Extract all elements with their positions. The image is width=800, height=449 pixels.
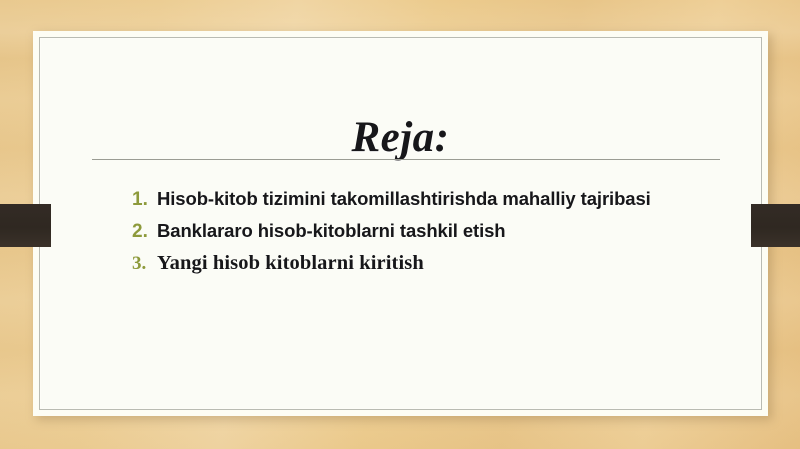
title-divider (92, 159, 720, 160)
list-item-number: 1. (132, 187, 157, 213)
list-item-number: 2. (132, 219, 157, 245)
slide-card-inner-border: Reja: 1. Hisob-kitob tizimini takomillas… (39, 37, 762, 410)
list-item: 1. Hisob-kitob tizimini takomillashtiris… (132, 187, 772, 213)
list-item: 3. Yangi hisob kitoblarni kiritish (132, 250, 772, 278)
page-title: Reja: (40, 114, 761, 161)
list-item-label: Yangi hisob kitoblarni kiritish (157, 250, 772, 278)
list-item: 2. Banklararo hisob-kitoblarni tashkil e… (132, 219, 772, 245)
list-item-label: Banklararo hisob-kitoblarni tashkil etis… (157, 219, 772, 244)
list-item-number: 3. (132, 251, 157, 277)
decorative-tab-right (751, 204, 800, 247)
decorative-tab-left (0, 204, 51, 247)
list-item-label: Hisob-kitob tizimini takomillashtirishda… (157, 187, 772, 212)
slide-content-card: Reja: 1. Hisob-kitob tizimini takomillas… (33, 31, 768, 416)
presentation-slide: Reja: 1. Hisob-kitob tizimini takomillas… (0, 0, 800, 449)
agenda-list: 1. Hisob-kitob tizimini takomillashtiris… (92, 187, 772, 284)
